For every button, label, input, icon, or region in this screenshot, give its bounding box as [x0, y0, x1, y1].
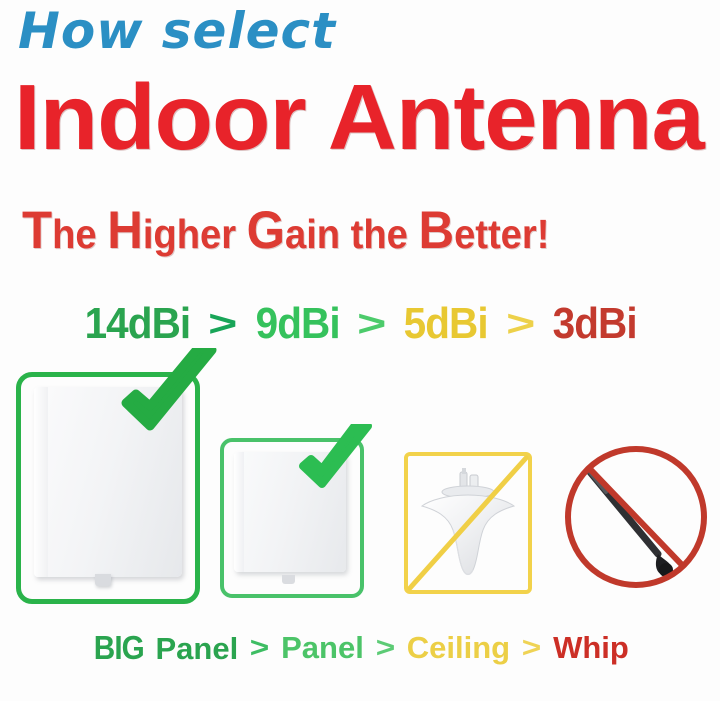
gain-value-9dBi: 9dBi — [255, 299, 339, 349]
subtitle-part-6: B — [418, 201, 454, 260]
subtitle-part-7: etter! — [454, 211, 549, 257]
antenna-type-label-6: Whip — [553, 630, 629, 666]
check-icon — [120, 348, 220, 452]
antenna-connector-stub — [95, 574, 111, 586]
check-icon — [298, 424, 374, 504]
script-headline: How select — [18, 2, 336, 60]
product-whip-antenna — [560, 436, 712, 598]
label-separator-3: > — [376, 632, 395, 665]
label-separator-1: > — [250, 632, 269, 665]
subtitle-part-0: T — [22, 201, 52, 260]
label-separator-5: > — [522, 632, 541, 665]
infographic-poster: How select Indoor Antenna The Higher Gai… — [0, 0, 720, 701]
subtitle-part-4: G — [247, 201, 285, 260]
gain-value-14dBi: 14dBi — [84, 299, 190, 349]
product-big-panel-antenna — [16, 372, 200, 604]
gain-comparison-row: 14dBi>9dBi>5dBi>3dBi — [0, 296, 720, 352]
subtitle-part-3: igher — [143, 211, 247, 257]
gain-value-5dBi: 5dBi — [404, 299, 488, 349]
gain-value-3dBi: 3dBi — [553, 299, 637, 349]
antenna-type-label-0: BIG Panel — [91, 629, 238, 667]
gain-separator-1: > — [208, 306, 237, 343]
subtitle-part-1: he — [52, 211, 107, 257]
antenna-connector-stub — [282, 575, 295, 584]
subtitle: The Higher Gain the Better! — [22, 200, 549, 261]
subtitle-part-2: H — [107, 201, 143, 260]
subtitle-part-5: ain the — [285, 211, 418, 257]
product-row — [0, 366, 720, 612]
antenna-type-label-row: BIG Panel>Panel>Ceiling>Whip — [0, 622, 720, 674]
page-title: Indoor Antenna — [14, 72, 704, 163]
gain-separator-5: > — [506, 306, 535, 343]
whip-antenna-icon — [560, 436, 712, 598]
label-emphasis: BIG — [94, 629, 144, 667]
ceiling-antenna-icon — [404, 452, 532, 594]
product-panel-antenna — [220, 438, 364, 598]
gain-separator-3: > — [357, 306, 386, 343]
antenna-type-label-2: Panel — [281, 630, 364, 666]
product-ceiling-antenna — [404, 452, 532, 594]
antenna-type-label-4: Ceiling — [407, 630, 510, 666]
